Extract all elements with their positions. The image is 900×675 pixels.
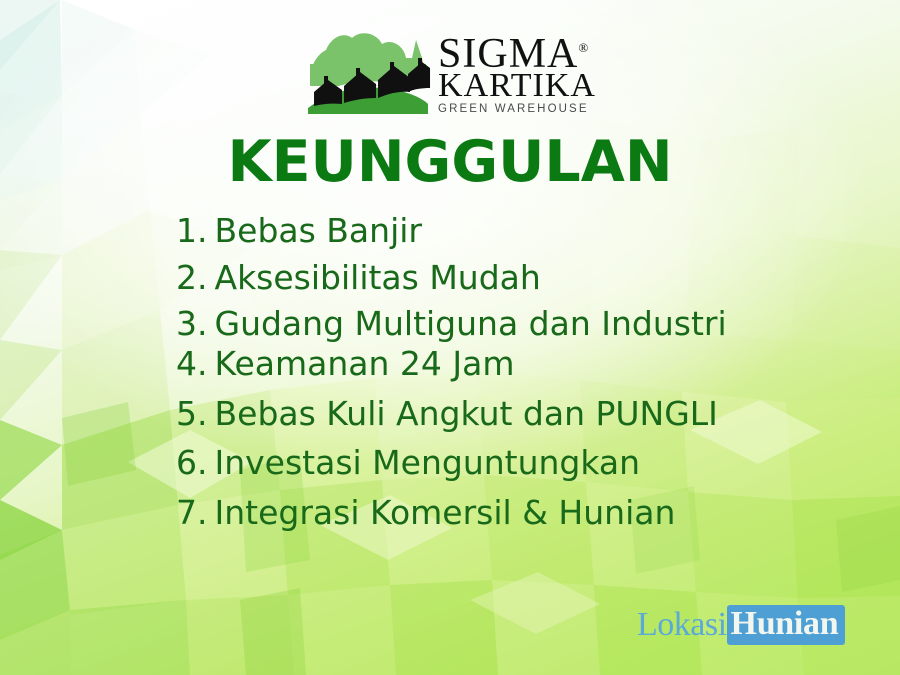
logo-brand-sigma: SIGMA® — [438, 33, 588, 75]
logo-wordmark: SIGMA® KARTIKA GREEN WAREHOUSE — [438, 29, 596, 116]
list-item-label: Bebas Banjir — [215, 211, 422, 250]
list-item-number: 2. — [176, 258, 208, 297]
list-item: 7.Integrasi Komersil & Hunian — [176, 495, 727, 531]
list-item-number: 3. — [176, 304, 208, 343]
list-item-label: Gudang Multiguna dan Industri — [215, 304, 727, 343]
registered-trademark-icon: ® — [578, 40, 588, 55]
list-item-number: 5. — [176, 394, 208, 433]
list-item-number: 6. — [176, 443, 208, 482]
company-logo: SIGMA® KARTIKA GREEN WAREHOUSE — [304, 24, 596, 120]
list-item-number: 4. — [176, 344, 208, 383]
list-item-label: Aksesibilitas Mudah — [215, 258, 541, 297]
list-item: 6.Investasi Menguntungkan — [176, 445, 727, 481]
list-item: 2.Aksesibilitas Mudah — [176, 260, 727, 296]
list-item: 1.Bebas Banjir — [176, 213, 727, 249]
list-item-label: Investasi Menguntungkan — [215, 443, 641, 482]
list-item-label: Bebas Kuli Angkut dan PUNGLI — [215, 394, 718, 433]
list-item: 4.Keamanan 24 Jam — [176, 346, 727, 382]
logo-brand-sigma-text: SIGMA — [438, 31, 578, 77]
watermark-hunian-badge: Hunian — [727, 605, 846, 645]
list-item-number: 7. — [176, 493, 208, 532]
list-item-label: Integrasi Komersil & Hunian — [215, 493, 676, 532]
slide-canvas: SIGMA® KARTIKA GREEN WAREHOUSE KEUNGGULA… — [0, 0, 900, 675]
sigma-kartika-logo-mark — [304, 24, 432, 120]
lokasihunian-watermark: Lokasi Hunian — [637, 605, 845, 645]
list-item: 5.Bebas Kuli Angkut dan PUNGLI — [176, 396, 727, 432]
logo-tagline: GREEN WAREHOUSE — [438, 104, 589, 116]
slide-title: KEUNGGULAN — [0, 134, 900, 191]
watermark-lokasi-text: Lokasi — [637, 608, 727, 642]
list-item-number: 1. — [176, 211, 208, 250]
list-item-label: Keamanan 24 Jam — [215, 344, 515, 383]
advantages-list: 1.Bebas Banjir 2.Aksesibilitas Mudah 3.G… — [176, 213, 727, 541]
list-item: 3.Gudang Multiguna dan Industri — [176, 306, 727, 342]
